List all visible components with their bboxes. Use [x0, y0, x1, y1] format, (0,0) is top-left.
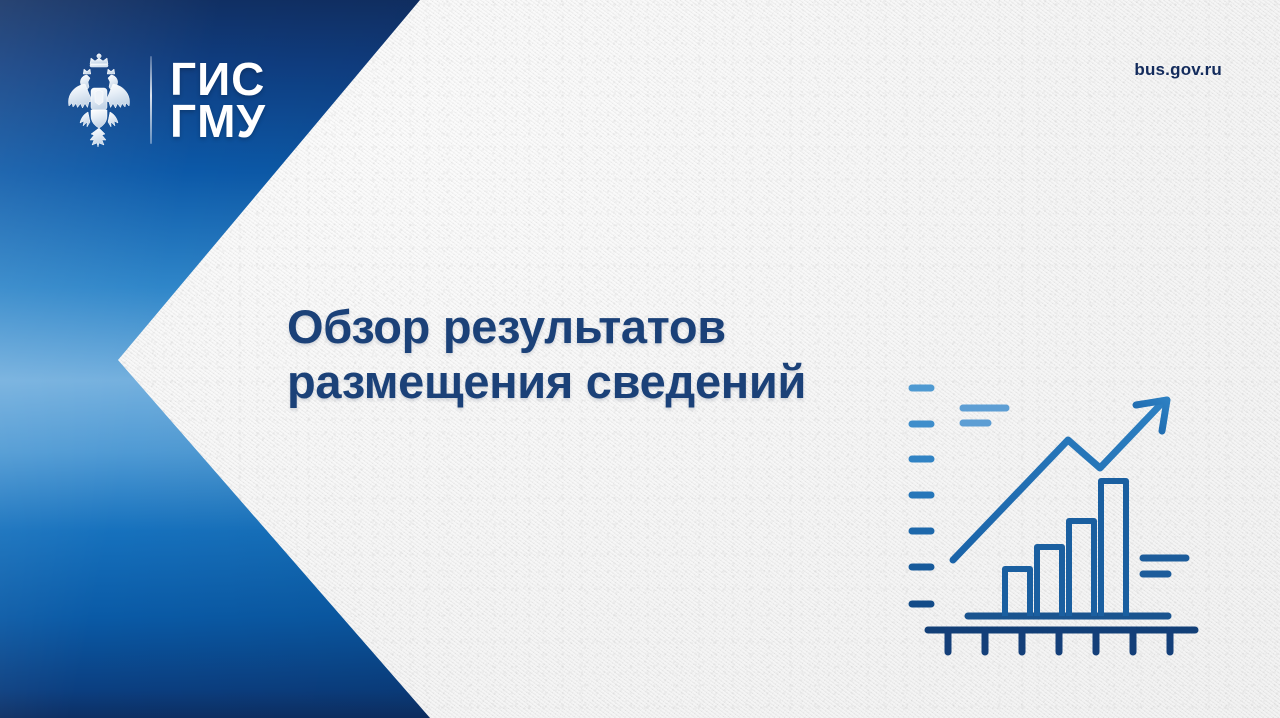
logo-wordmark: ГИС ГМУ [170, 58, 266, 143]
chart-bar-1 [1005, 569, 1030, 616]
chart-bars [1005, 481, 1126, 616]
logo-divider [150, 56, 152, 144]
chart-bar-2 [1037, 547, 1062, 616]
russian-double-headed-eagle-icon [62, 52, 136, 148]
site-url[interactable]: bus.gov.ru [1134, 60, 1222, 80]
logo-line-gis: ГИС [170, 58, 266, 100]
logo-line-gmu: ГМУ [170, 100, 266, 142]
chart-bar-4 [1101, 481, 1126, 616]
chart-bar-3 [1069, 521, 1094, 616]
chart-dashes-top [963, 408, 1006, 423]
brand-logo: ГИС ГМУ [62, 52, 266, 148]
slide-canvas: ГИС ГМУ bus.gov.ru Обзор результатов раз… [0, 0, 1280, 718]
chart-dashes-right [1143, 558, 1186, 574]
page-title: Обзор результатов размещения сведений [287, 300, 927, 410]
page-title-line-1: Обзор результатов [287, 300, 927, 355]
page-title-line-2: размещения сведений [287, 355, 927, 410]
growth-chart-illustration [890, 358, 1210, 668]
